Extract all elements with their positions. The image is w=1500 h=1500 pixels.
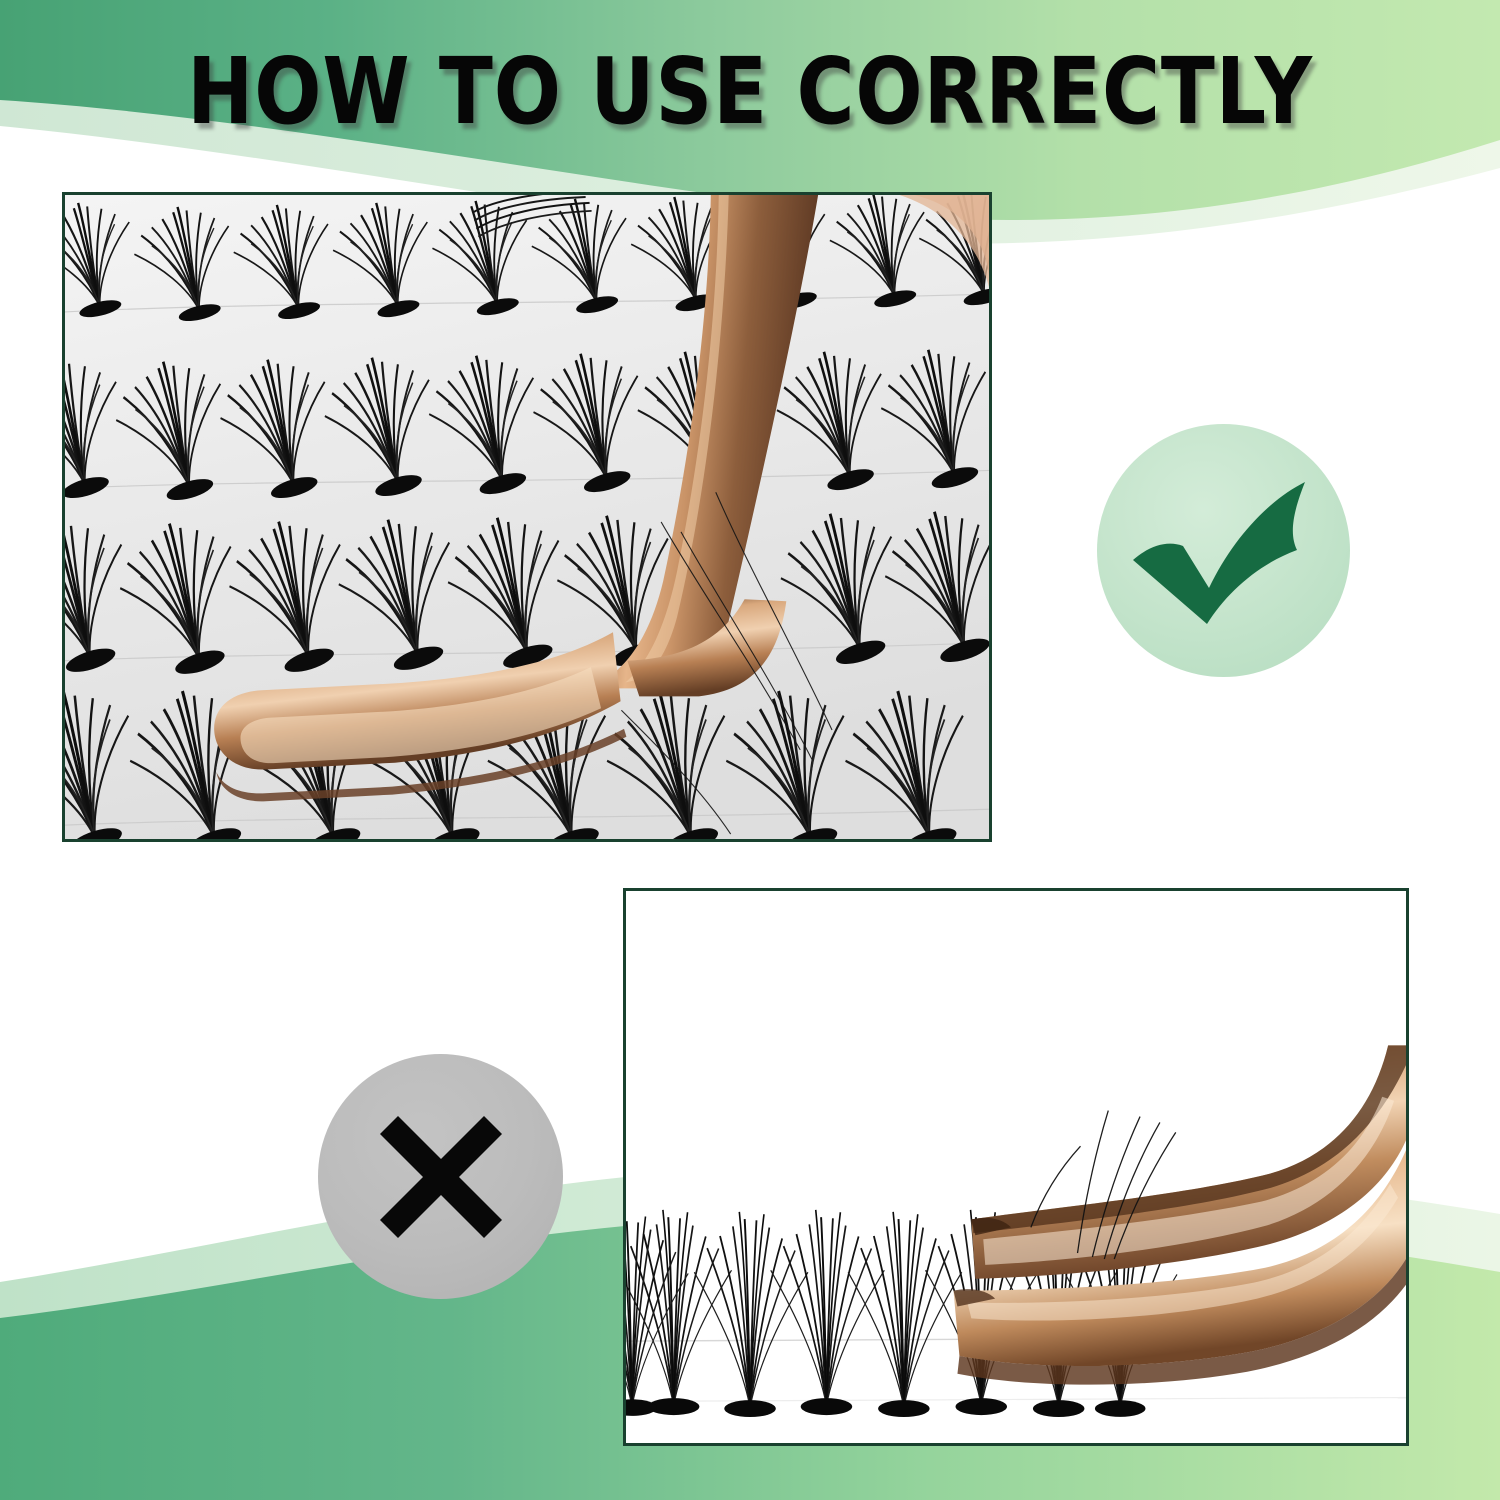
check-icon: [1129, 476, 1319, 626]
infographic-canvas: HOW TO USE CORRECTLY: [0, 0, 1500, 1500]
status-badge-incorrect: [318, 1054, 563, 1299]
incorrect-usage-photo: [623, 888, 1409, 1446]
lash-tray-overhead-image: [65, 195, 989, 839]
page-title: HOW TO USE CORRECTLY: [105, 44, 1395, 140]
lash-side-view-image: [626, 891, 1406, 1443]
status-badge-correct: [1097, 424, 1350, 677]
cross-icon: [376, 1112, 506, 1242]
correct-usage-photo: [62, 192, 992, 842]
